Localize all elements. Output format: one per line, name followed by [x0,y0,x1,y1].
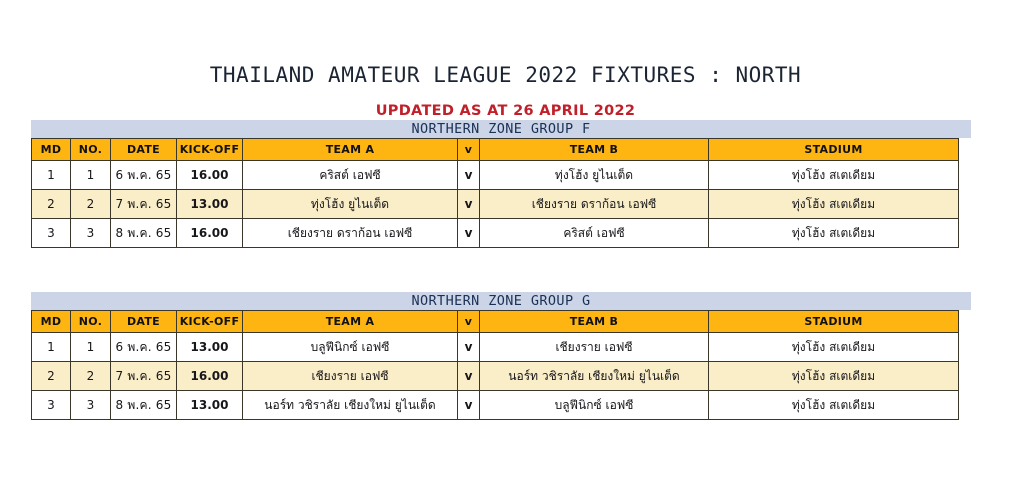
col-header-team-a: TEAM A [243,139,458,161]
cell-team-a: คริสต์ เอฟซี [243,161,458,190]
cell-date: 8 พ.ค. 65 [111,391,177,420]
cell-versus: v [458,219,480,248]
cell-team-b: ทุ่งโฮ้ง ยูไนเต็ด [480,161,709,190]
col-header-team-b: TEAM B [480,139,709,161]
cell-team-b: เชียงราย ดราก้อน เอฟซี [480,190,709,219]
cell-date: 7 พ.ค. 65 [111,190,177,219]
cell-date: 6 พ.ค. 65 [111,333,177,362]
cell-date: 8 พ.ค. 65 [111,219,177,248]
col-header-no: NO. [71,311,111,333]
cell-md: 2 [32,190,71,219]
cell-no: 2 [71,362,111,391]
cell-kickoff: 13.00 [177,333,243,362]
cell-no: 1 [71,333,111,362]
cell-date: 6 พ.ค. 65 [111,161,177,190]
cell-stadium: ทุ่งโฮ้ง สเตเดียม [709,190,959,219]
cell-stadium: ทุ่งโฮ้ง สเตเดียม [709,333,959,362]
col-header-no: NO. [71,139,111,161]
cell-team-b: นอร์ท วชิราลัย เชียงใหม่ ยูไนเต็ด [480,362,709,391]
cell-no: 3 [71,391,111,420]
col-header-kickoff: KICK-OFF [177,311,243,333]
col-header-v: v [458,311,480,333]
fixtures-table-f: MD NO. DATE KICK-OFF TEAM A v TEAM B STA… [31,138,959,248]
cell-versus: v [458,333,480,362]
col-header-date: DATE [111,139,177,161]
cell-no: 1 [71,161,111,190]
col-header-date: DATE [111,311,177,333]
cell-md: 3 [32,391,71,420]
col-header-md: MD [32,139,71,161]
cell-kickoff: 16.00 [177,161,243,190]
col-header-stadium: STADIUM [709,311,959,333]
group-block-f: NORTHERN ZONE GROUP F MD NO. DATE KICK-O… [31,120,969,248]
table-header-row: MD NO. DATE KICK-OFF TEAM A v TEAM B STA… [32,311,959,333]
cell-md: 3 [32,219,71,248]
page-title: THAILAND AMATEUR LEAGUE 2022 FIXTURES : … [0,63,1011,87]
group-block-g: NORTHERN ZONE GROUP G MD NO. DATE KICK-O… [31,292,969,420]
cell-versus: v [458,161,480,190]
col-header-v: v [458,139,480,161]
updated-date-label: UPDATED AS AT 26 APRIL 2022 [0,103,1011,119]
cell-stadium: ทุ่งโฮ้ง สเตเดียม [709,362,959,391]
cell-kickoff: 16.00 [177,362,243,391]
table-row: 3 3 8 พ.ค. 65 13.00 นอร์ท วชิราลัย เชียง… [32,391,959,420]
cell-kickoff: 13.00 [177,391,243,420]
col-header-md: MD [32,311,71,333]
cell-team-b: คริสต์ เอฟซี [480,219,709,248]
cell-md: 1 [32,333,71,362]
table-row: 1 1 6 พ.ค. 65 16.00 คริสต์ เอฟซี v ทุ่งโ… [32,161,959,190]
col-header-kickoff: KICK-OFF [177,139,243,161]
col-header-team-a: TEAM A [243,311,458,333]
cell-team-a: ทุ่งโฮ้ง ยูไนเต็ด [243,190,458,219]
table-row: 2 2 7 พ.ค. 65 13.00 ทุ่งโฮ้ง ยูไนเต็ด v … [32,190,959,219]
cell-date: 7 พ.ค. 65 [111,362,177,391]
group-title-g: NORTHERN ZONE GROUP G [31,292,971,310]
fixtures-table-g: MD NO. DATE KICK-OFF TEAM A v TEAM B STA… [31,310,959,420]
cell-kickoff: 13.00 [177,190,243,219]
cell-no: 2 [71,190,111,219]
cell-md: 1 [32,161,71,190]
table-row: 2 2 7 พ.ค. 65 16.00 เชียงราย เอฟซี v นอร… [32,362,959,391]
cell-team-b: บลูฟีนิกซ์ เอฟซี [480,391,709,420]
group-title-f: NORTHERN ZONE GROUP F [31,120,971,138]
cell-stadium: ทุ่งโฮ้ง สเตเดียม [709,391,959,420]
col-header-stadium: STADIUM [709,139,959,161]
fixtures-page: THAILAND AMATEUR LEAGUE 2022 FIXTURES : … [0,0,1011,501]
cell-team-a: บลูฟีนิกซ์ เอฟซี [243,333,458,362]
col-header-team-b: TEAM B [480,311,709,333]
cell-no: 3 [71,219,111,248]
cell-versus: v [458,190,480,219]
table-row: 1 1 6 พ.ค. 65 13.00 บลูฟีนิกซ์ เอฟซี v เ… [32,333,959,362]
cell-team-a: เชียงราย ดราก้อน เอฟซี [243,219,458,248]
cell-team-a: เชียงราย เอฟซี [243,362,458,391]
cell-md: 2 [32,362,71,391]
cell-stadium: ทุ่งโฮ้ง สเตเดียม [709,161,959,190]
cell-versus: v [458,362,480,391]
cell-stadium: ทุ่งโฮ้ง สเตเดียม [709,219,959,248]
cell-kickoff: 16.00 [177,219,243,248]
table-row: 3 3 8 พ.ค. 65 16.00 เชียงราย ดราก้อน เอฟ… [32,219,959,248]
cell-team-a: นอร์ท วชิราลัย เชียงใหม่ ยูไนเต็ด [243,391,458,420]
cell-versus: v [458,391,480,420]
cell-team-b: เชียงราย เอฟซี [480,333,709,362]
table-header-row: MD NO. DATE KICK-OFF TEAM A v TEAM B STA… [32,139,959,161]
